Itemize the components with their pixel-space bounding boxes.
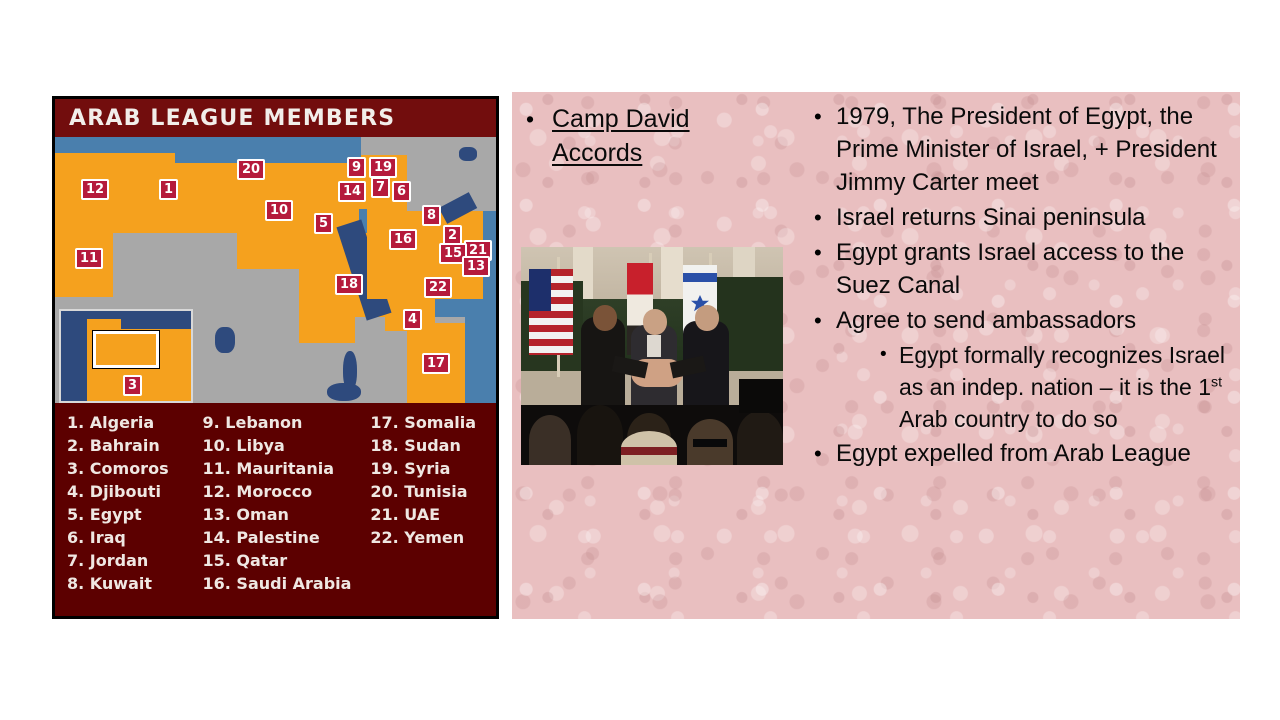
bullet-glyph-icon: • <box>814 236 836 269</box>
bullet-item: • 1979, The President of Egypt, the Prim… <box>814 100 1226 199</box>
bullet-glyph-icon: • <box>814 201 836 234</box>
bullet-glyph-icon: • <box>526 102 552 136</box>
bullet-text-sub-post: Arab country to do so <box>899 406 1118 432</box>
camp-david-content-panel: • Camp David Accords <box>512 92 1240 619</box>
legend-entry: 9. Lebanon <box>203 411 365 434</box>
legend-entry: 4. Djibouti <box>67 480 197 503</box>
bullet-text: Israel returns Sinai peninsula <box>836 201 1146 234</box>
bullet-text: 1979, The President of Egypt, the Prime … <box>836 100 1226 199</box>
bullet-item: • Egypt grants Israel access to the Suez… <box>814 236 1226 302</box>
bullet-text: Agree to send ambassadors <box>836 304 1136 337</box>
photo-flag-us-canton <box>529 269 551 311</box>
map-marker: 10 <box>265 200 293 221</box>
arab-league-map-figure: ARAB LEAGUE MEMBERS 20 12 1 9 <box>52 96 499 619</box>
bullet-item-sub: • Egypt formally recognizes Israel as an… <box>880 339 1226 435</box>
legend-entry: 14. Palestine <box>203 526 365 549</box>
water-mediterranean <box>175 137 361 163</box>
map-marker: 8 <box>422 205 441 226</box>
legend-entry: 20. Tunisia <box>370 480 486 503</box>
legend-entry: 6. Iraq <box>67 526 197 549</box>
map-marker: 13 <box>462 256 490 277</box>
legend-entry: 10. Libya <box>203 434 365 457</box>
bullet-text-sub-pre: Egypt formally recognizes Israel as an i… <box>899 342 1225 400</box>
heading-row: • Camp David Accords <box>526 102 808 170</box>
bullet-glyph-icon: • <box>880 339 899 371</box>
photo-leader-carter-head <box>643 309 667 335</box>
world-locator-inset: 3 <box>59 309 193 403</box>
bullet-item: • Israel returns Sinai peninsula <box>814 201 1226 234</box>
photo-flag-israel-stripe-top <box>683 273 717 282</box>
map-marker: 16 <box>389 229 417 250</box>
legend-entry: 22. Yemen <box>370 526 486 549</box>
bullet-text: Egypt grants Israel access to the Suez C… <box>836 236 1226 302</box>
map-marker: 1 <box>159 179 178 200</box>
legend-entry: 12. Morocco <box>203 480 365 503</box>
map-marker: 18 <box>335 274 363 295</box>
legend-column-1: 1. Algeria 2. Bahrain 3. Comoros 4. Djib… <box>67 411 197 595</box>
map-marker: 5 <box>314 213 333 234</box>
map-marker: 9 <box>347 157 366 178</box>
bullet-item: • Egypt expelled from Arab League <box>814 437 1226 470</box>
bullet-text-sub: Egypt formally recognizes Israel as an i… <box>899 339 1226 435</box>
map-marker: 12 <box>81 179 109 200</box>
map-title: ARAB LEAGUE MEMBERS <box>69 106 395 131</box>
map-marker: 7 <box>371 177 390 198</box>
camp-david-accords-heading: Camp David Accords <box>552 102 748 170</box>
photo-audience-head <box>737 411 783 465</box>
photo-leader-carter-shirt <box>647 335 661 357</box>
map-legend: 1. Algeria 2. Bahrain 3. Comoros 4. Djib… <box>55 403 496 605</box>
water-lake-chad <box>215 327 235 353</box>
legend-column-2: 9. Lebanon 10. Libya 11. Mauritania 12. … <box>203 411 365 595</box>
legend-entry: 13. Oman <box>203 503 365 526</box>
map-marker: 22 <box>424 277 452 298</box>
legend-entry: 7. Jordan <box>67 549 197 572</box>
inset-region-highlight <box>93 331 159 368</box>
photo-audience-head <box>577 405 623 465</box>
photo-leader-begin-head <box>695 305 719 331</box>
bullet-glyph-icon: • <box>814 304 836 337</box>
bullet-glyph-icon: • <box>814 100 836 133</box>
map-marker: 11 <box>75 248 103 269</box>
ordinal-superscript: st <box>1211 374 1222 390</box>
photo-audience-sunglasses <box>693 439 727 447</box>
legend-entry: 2. Bahrain <box>67 434 197 457</box>
inset-land-eurasia-north <box>121 317 191 329</box>
bullet-item: • Agree to send ambassadors <box>814 304 1226 337</box>
map-marker: 19 <box>369 157 397 178</box>
map-marker: 6 <box>392 181 411 202</box>
legend-entry: 3. Comoros <box>67 457 197 480</box>
bullet-text: Egypt expelled from Arab League <box>836 437 1191 470</box>
legend-entry: 5. Egypt <box>67 503 197 526</box>
map-title-bar: ARAB LEAGUE MEMBERS <box>55 99 496 137</box>
photo-leader-sadat-head <box>593 305 617 331</box>
photo-podium <box>739 379 783 413</box>
legend-entry: 11. Mauritania <box>203 457 365 480</box>
map-canvas: 20 12 1 9 19 7 14 6 10 8 5 2 16 21 15 13… <box>55 137 496 403</box>
legend-entry: 15. Qatar <box>203 549 365 572</box>
photo-audience-head <box>529 415 571 465</box>
panel-right-column: • 1979, The President of Egypt, the Prim… <box>808 92 1240 619</box>
legend-entry: 8. Kuwait <box>67 572 197 595</box>
bullet-glyph-icon: • <box>814 437 836 470</box>
inset-land-americas <box>61 341 83 403</box>
map-marker: 14 <box>338 181 366 202</box>
legend-entry: 1. Algeria <box>67 411 197 434</box>
map-marker: 20 <box>237 159 265 180</box>
map-marker: 3 <box>123 375 142 396</box>
legend-entry: 19. Syria <box>370 457 486 480</box>
legend-entry: 17. Somalia <box>370 411 486 434</box>
legend-entry: 16. Saudi Arabia <box>203 572 365 595</box>
map-marker: 17 <box>422 353 450 374</box>
map-marker: 4 <box>403 309 422 330</box>
water-lake-victoria <box>327 383 361 401</box>
legend-entry: 21. UAE <box>370 503 486 526</box>
water-caspian <box>459 147 477 161</box>
photo-audience-hat-band <box>621 447 677 455</box>
legend-column-3: 17. Somalia 18. Sudan 19. Syria 20. Tuni… <box>370 411 486 595</box>
panel-left-column: • Camp David Accords <box>512 92 808 619</box>
camp-david-handshake-photo <box>521 247 783 465</box>
legend-entry: 18. Sudan <box>370 434 486 457</box>
